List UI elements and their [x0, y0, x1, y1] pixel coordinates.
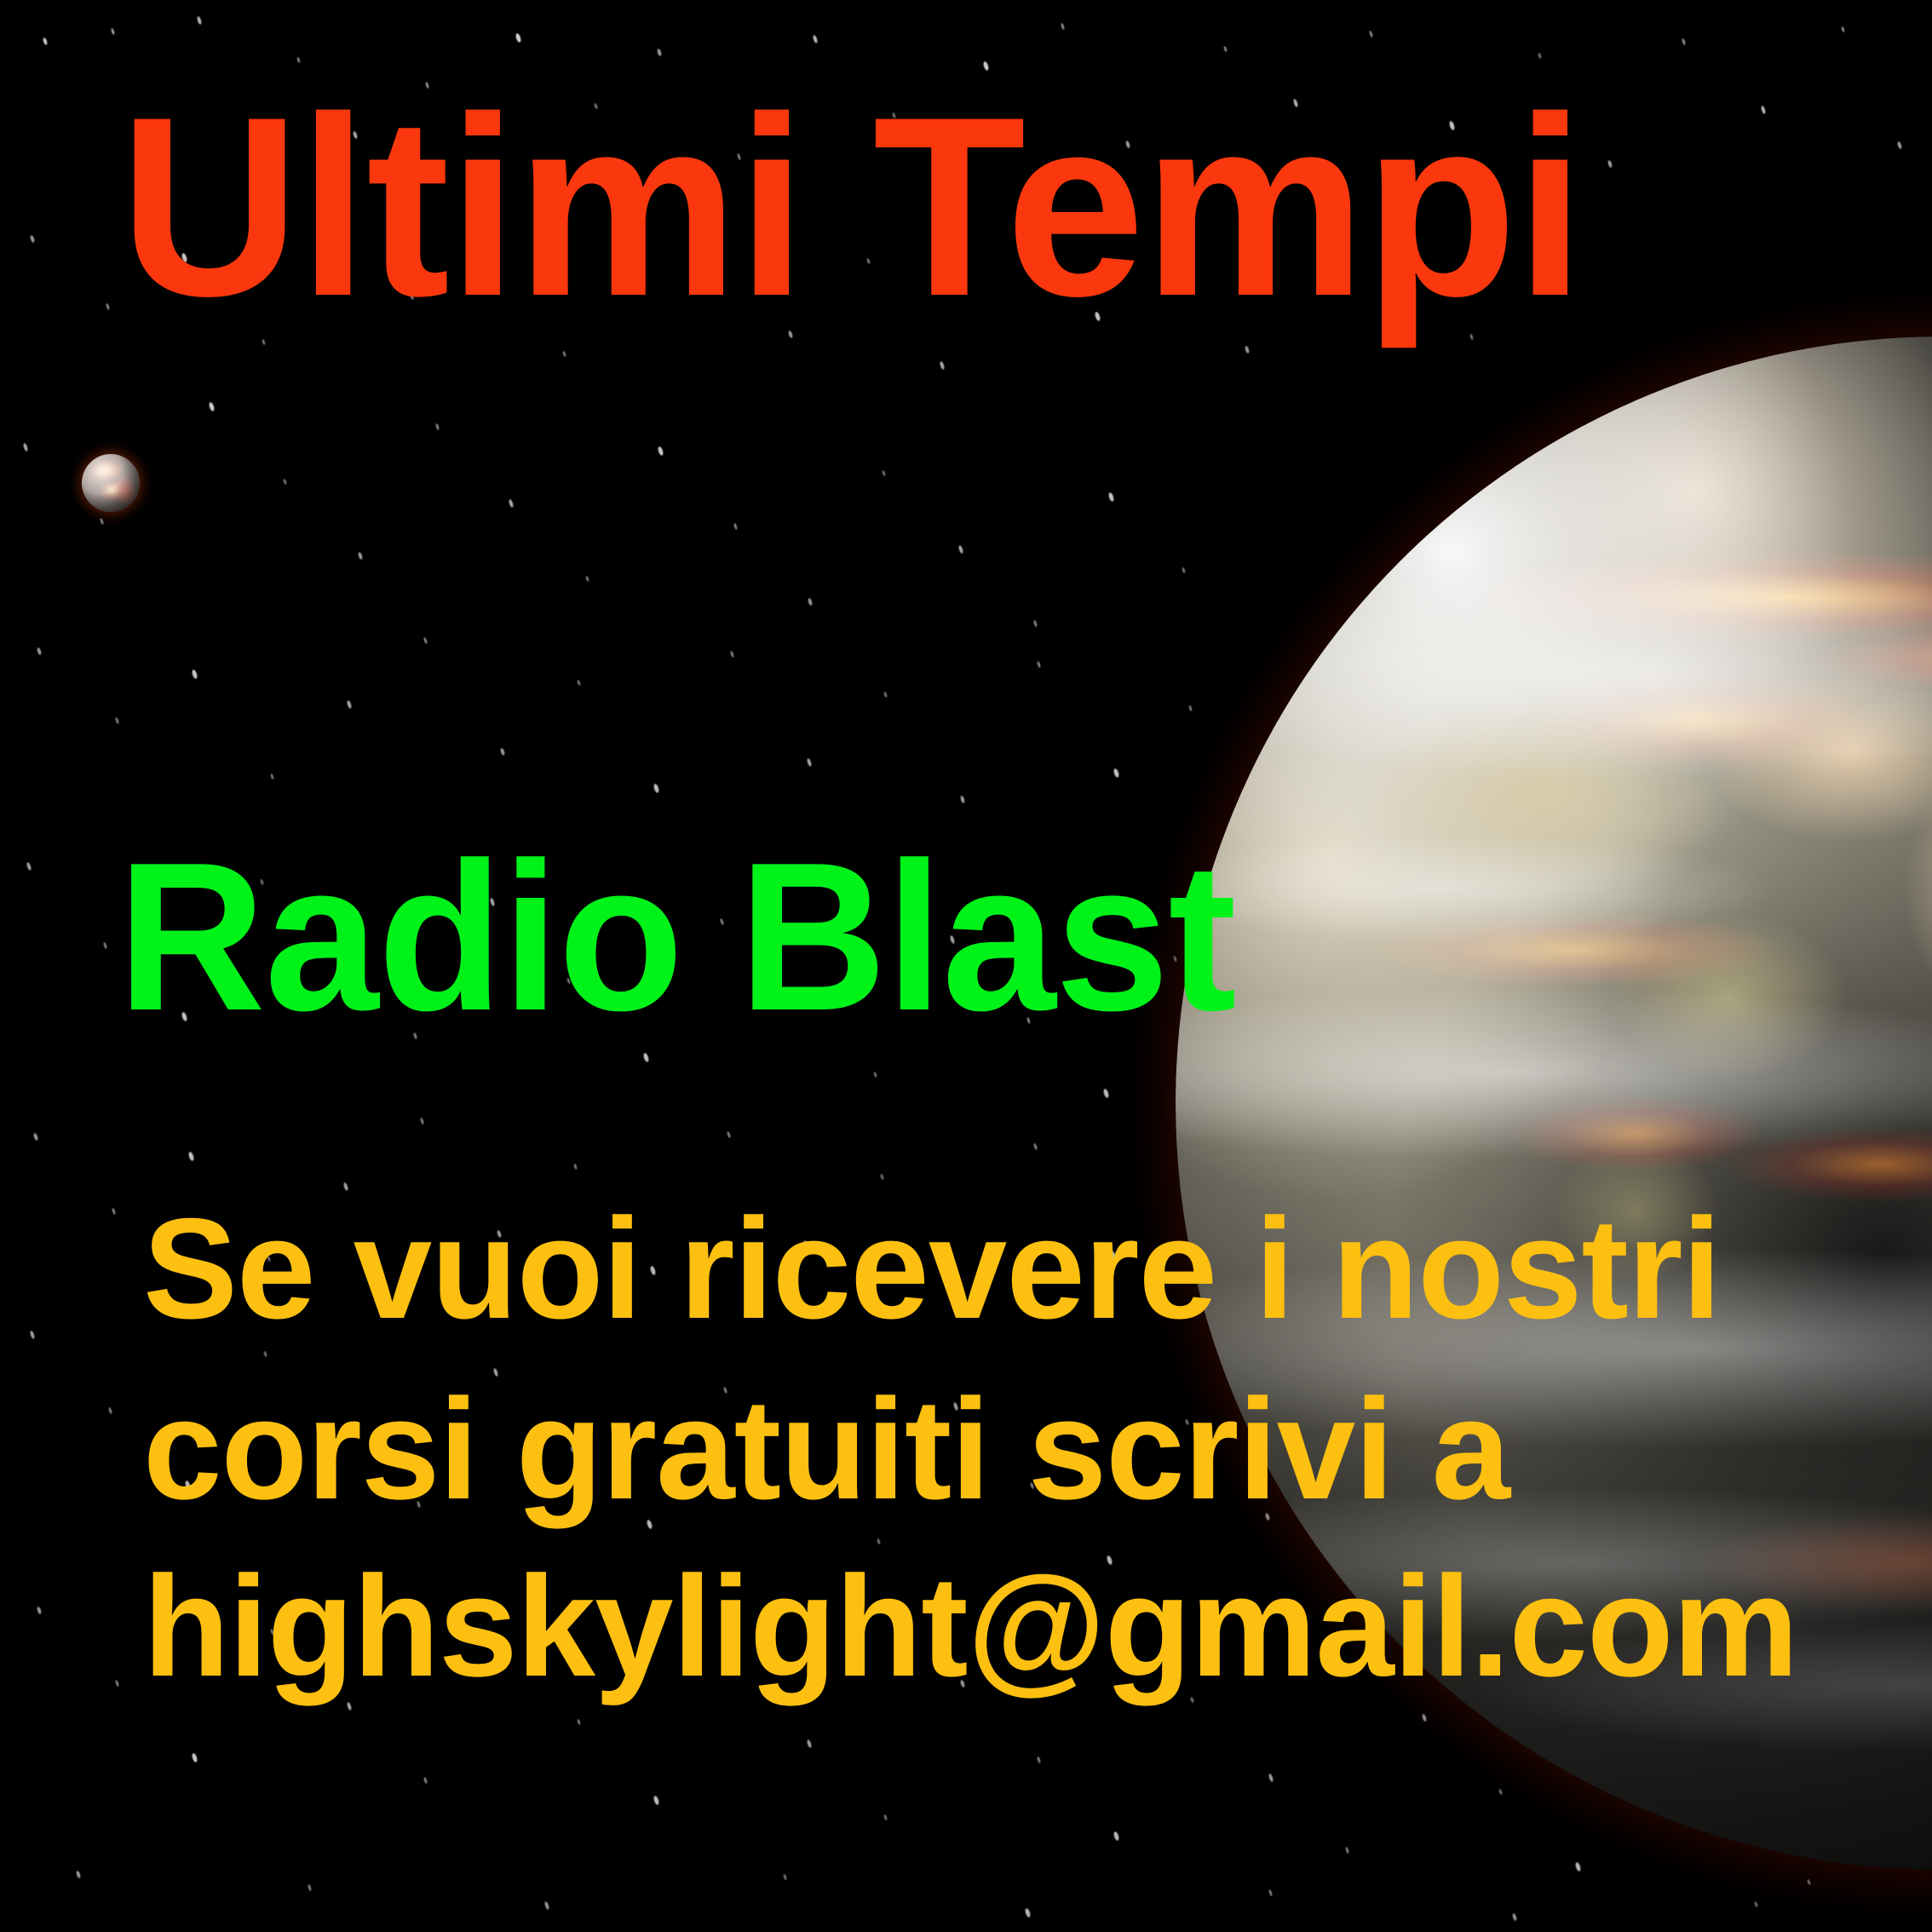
poster-canvas: Ultimi Tempi Radio Blast Se vuoi ricever… — [0, 0, 1932, 1932]
star-speck — [1607, 160, 1613, 169]
star-speck — [115, 717, 119, 725]
star-speck — [1188, 705, 1193, 712]
star-speck — [940, 361, 946, 371]
star-speck — [283, 479, 287, 486]
star-speck — [873, 1072, 877, 1078]
star-speck — [733, 523, 738, 531]
star-speck — [1369, 31, 1373, 38]
star-speck — [1422, 1714, 1428, 1722]
star-speck — [807, 1739, 813, 1749]
star-speck — [1107, 492, 1114, 502]
star-speck — [1841, 26, 1845, 33]
star-speck — [1345, 1847, 1349, 1854]
star-speck — [727, 1131, 731, 1139]
star-speck — [783, 1874, 787, 1881]
star-speck — [30, 1331, 36, 1340]
star-speck — [577, 680, 581, 687]
star-speck — [653, 783, 659, 793]
star-speck — [585, 576, 589, 583]
star-speck — [1268, 1774, 1274, 1783]
star-speck — [1754, 1901, 1758, 1908]
star-speck — [657, 446, 664, 456]
star-speck — [1033, 1143, 1038, 1151]
star-speck — [1268, 1889, 1273, 1897]
star-speck — [423, 1777, 428, 1785]
star-speck — [1061, 23, 1065, 31]
star-speck — [435, 423, 440, 431]
star-speck — [26, 862, 32, 871]
star-speck — [1574, 1861, 1581, 1872]
star-speck — [43, 37, 49, 46]
star-speck — [877, 1538, 881, 1545]
star-speck — [106, 303, 110, 311]
star-speck — [813, 35, 819, 44]
star-speck — [544, 1901, 550, 1911]
star-speck — [573, 1164, 578, 1170]
star-speck — [23, 443, 29, 452]
star-speck — [509, 499, 515, 509]
star-speck — [100, 518, 104, 526]
star-speck — [730, 651, 734, 658]
star-speck — [187, 1151, 194, 1161]
star-speck — [191, 1752, 198, 1762]
page-title: Ultimi Tempi — [119, 78, 1584, 334]
star-speck — [108, 1407, 112, 1415]
star-speck — [37, 1607, 43, 1615]
moon-terminator — [82, 454, 140, 512]
star-speck — [358, 552, 364, 561]
star-speck — [1037, 1757, 1041, 1764]
star-speck — [1897, 141, 1903, 150]
star-speck — [1182, 567, 1186, 574]
star-speck — [208, 401, 215, 411]
star-speck — [958, 545, 964, 555]
star-speck — [111, 28, 115, 36]
star-speck — [1223, 46, 1228, 53]
star-speck — [347, 700, 353, 710]
body-text-line-2: corsi gratuiti scrivi a — [143, 1377, 1509, 1521]
star-speck — [115, 1680, 119, 1688]
star-speck — [1113, 1831, 1119, 1841]
star-speck — [653, 1795, 659, 1805]
star-speck — [1538, 53, 1542, 60]
star-speck — [112, 1208, 116, 1216]
contact-email: highskylight@gmail.com — [143, 1555, 1797, 1698]
star-speck — [263, 1351, 267, 1358]
star-speck — [1113, 768, 1119, 778]
star-speck — [103, 942, 107, 950]
star-speck — [1024, 1907, 1031, 1918]
star-speck — [515, 32, 521, 43]
station-name: Radio Blast — [118, 831, 1236, 1042]
star-speck — [308, 1884, 312, 1892]
star-speck — [883, 692, 888, 699]
star-speck — [197, 16, 203, 26]
star-speck — [807, 758, 813, 768]
star-speck — [270, 773, 274, 780]
star-speck — [880, 1174, 884, 1181]
star-speck — [808, 598, 814, 607]
star-speck — [960, 796, 966, 804]
star-speck — [1512, 1913, 1518, 1922]
star-speck — [1761, 106, 1767, 115]
burning-moon — [82, 454, 140, 512]
star-speck — [500, 748, 506, 756]
star-speck — [1033, 620, 1038, 628]
star-speck — [883, 1814, 888, 1821]
star-speck — [577, 1719, 581, 1726]
star-speck — [562, 351, 566, 358]
star-speck — [423, 637, 428, 645]
star-speck — [191, 669, 198, 679]
star-speck — [33, 1133, 39, 1141]
star-speck — [30, 235, 36, 244]
star-speck — [1037, 661, 1041, 669]
star-speck — [1682, 38, 1686, 46]
star-speck — [1498, 1789, 1503, 1796]
star-speck — [1807, 1879, 1811, 1886]
star-speck — [1102, 1088, 1109, 1098]
star-speck — [76, 1871, 82, 1879]
star-speck — [657, 49, 663, 57]
star-speck — [420, 1118, 424, 1125]
star-speck — [882, 470, 886, 477]
body-text-line-1: Se vuoi ricevere i nostri — [143, 1197, 1721, 1340]
star-speck — [37, 647, 43, 656]
